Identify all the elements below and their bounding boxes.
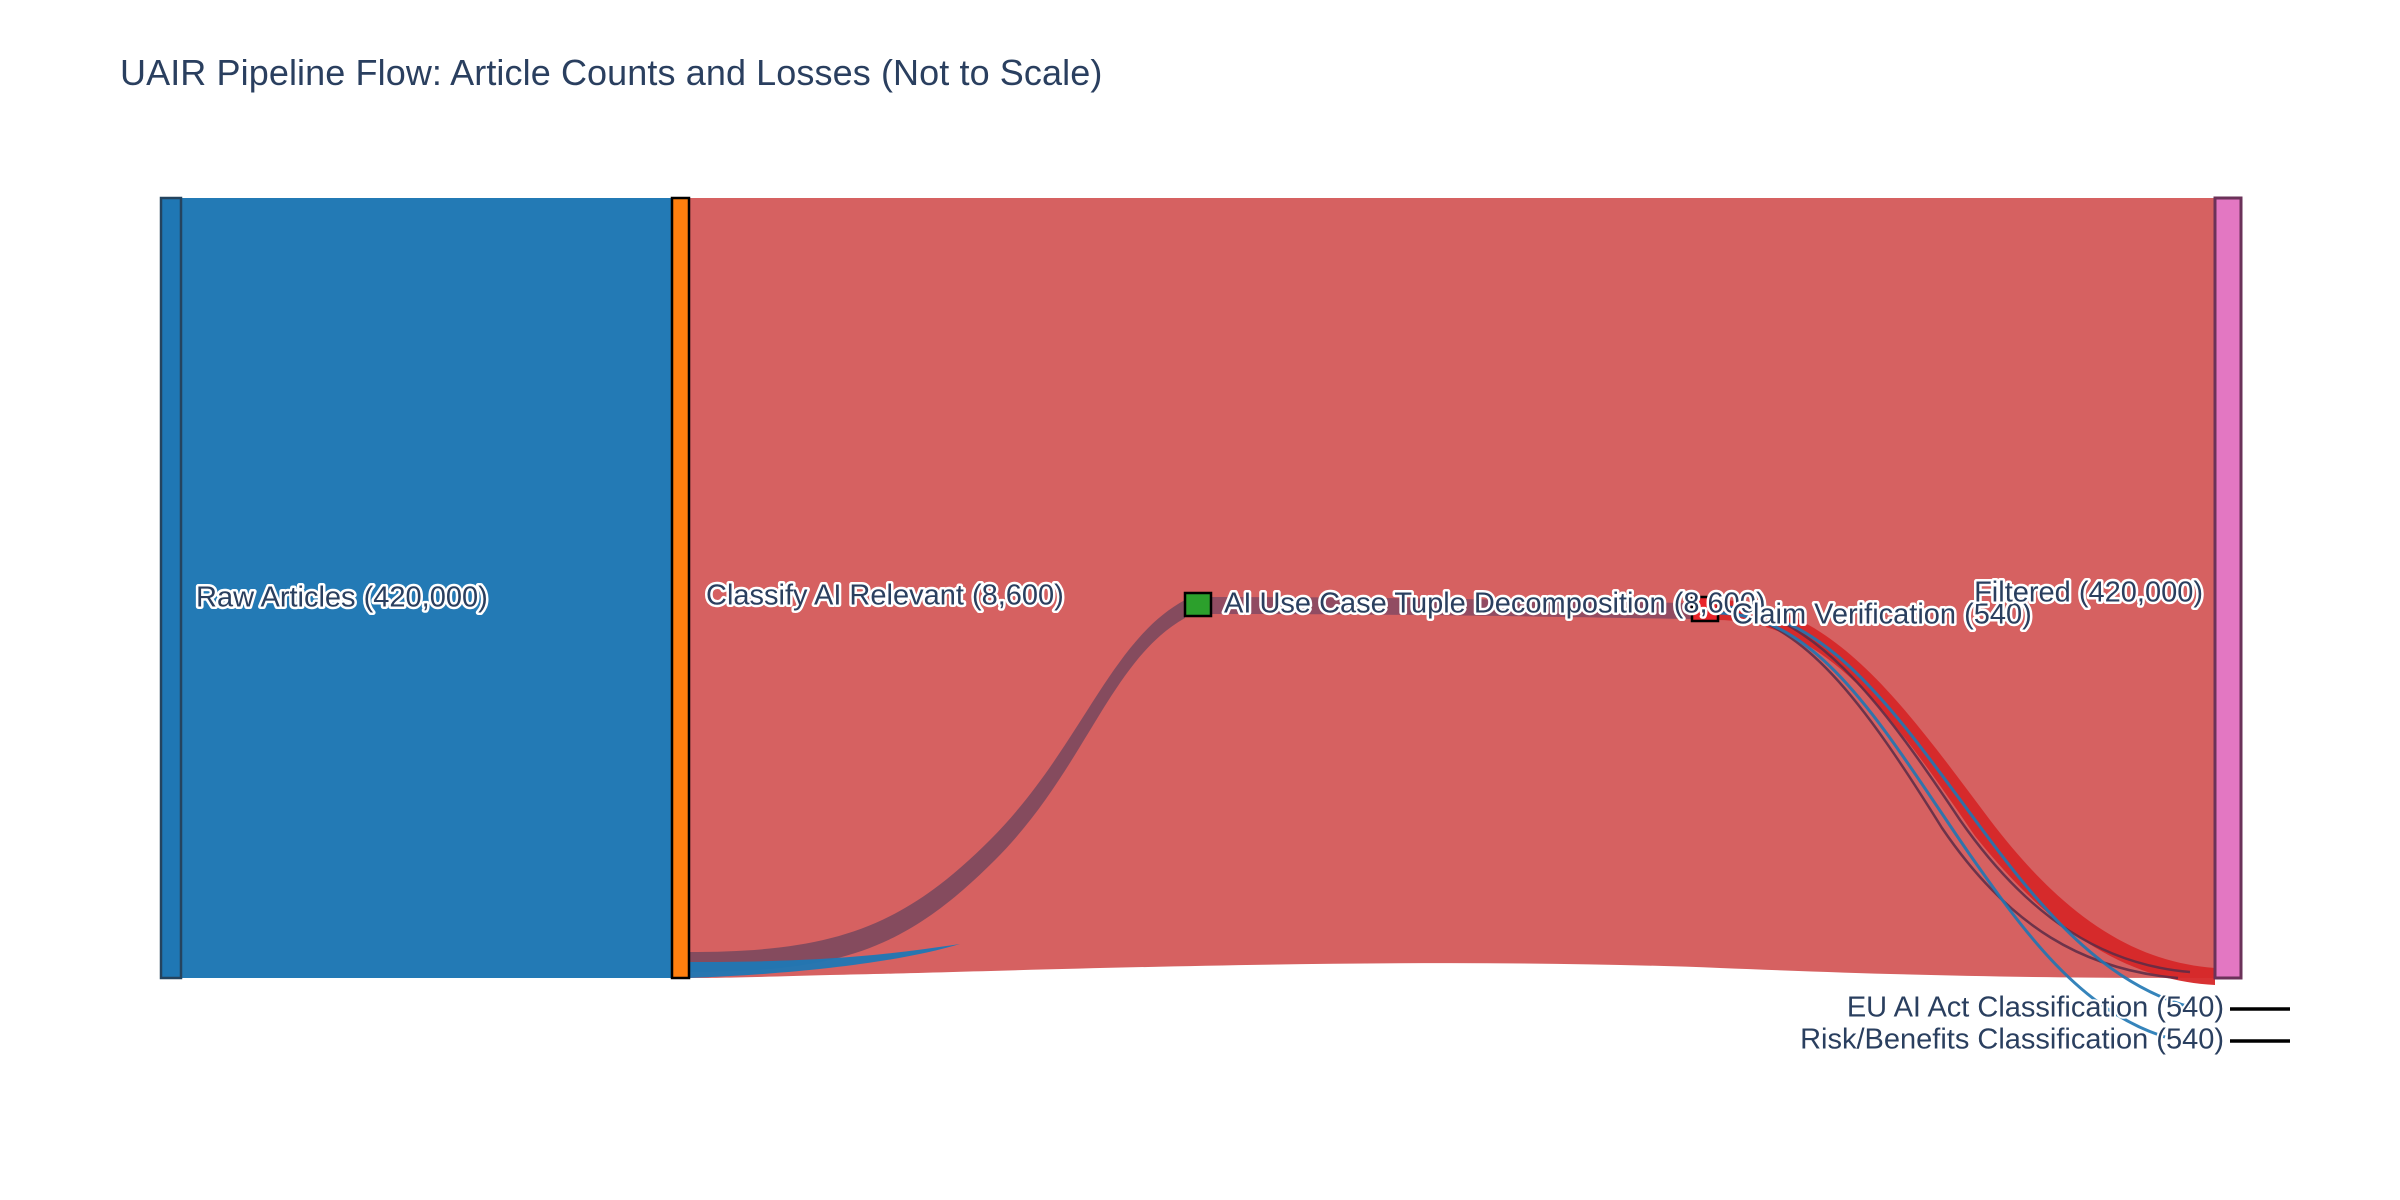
node-label-raw-articles: Raw Articles (420,000) — [196, 582, 488, 614]
node-label-filtered: Filtered (420,000) — [1974, 577, 2203, 609]
node-tuple-decomposition[interactable] — [1185, 593, 1211, 616]
node-classify-ai-relevant[interactable] — [672, 198, 689, 978]
node-filtered[interactable] — [2215, 198, 2241, 978]
sankey-figure: UAIR Pipeline Flow: Article Counts and L… — [0, 0, 2400, 1200]
node-raw-articles[interactable] — [161, 198, 181, 978]
node-label-eu-ai-act: EU AI Act Classification (540) — [1847, 992, 2224, 1024]
node-label-risk-benefits: Risk/Benefits Classification (540) — [1800, 1024, 2224, 1056]
node-label-tuple-decomposition: AI Use Case Tuple Decomposition (8,600) — [1224, 588, 1766, 620]
label-leader-lines — [2230, 1009, 2290, 1041]
node-label-classify-ai-relevant: Classify AI Relevant (8,600) — [706, 580, 1064, 612]
sankey-diagram: Raw Articles (420,000) Classify AI Relev… — [0, 0, 2400, 1200]
